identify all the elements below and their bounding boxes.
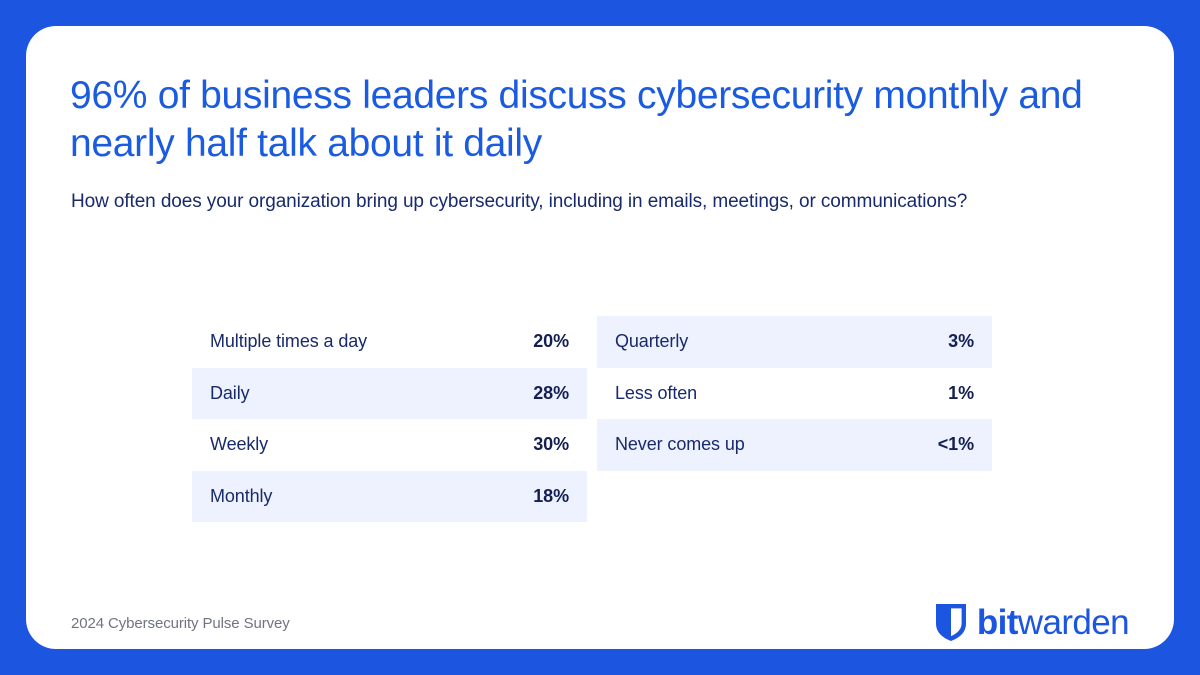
row-value: 28%: [533, 383, 569, 404]
row-value: <1%: [938, 434, 974, 455]
wordmark-bit: bit: [977, 603, 1018, 642]
row-label: Less often: [615, 383, 697, 404]
slide-root: 96% of business leaders discuss cybersec…: [0, 0, 1200, 675]
bitwarden-wordmark: bitwarden: [977, 604, 1129, 641]
row-label: Multiple times a day: [210, 331, 367, 352]
row-value: 30%: [533, 434, 569, 455]
results-column-right: Quarterly 3% Less often 1% Never comes u…: [597, 316, 992, 522]
table-row: Quarterly 3%: [597, 316, 992, 368]
page-title: 96% of business leaders discuss cybersec…: [70, 72, 1128, 168]
row-value: 1%: [948, 383, 974, 404]
table-row: Less often 1%: [597, 368, 992, 420]
row-label: Monthly: [210, 486, 272, 507]
results-column-left: Multiple times a day 20% Daily 28% Weekl…: [192, 316, 587, 522]
row-label: Quarterly: [615, 331, 688, 352]
table-row-empty: [597, 471, 992, 523]
wordmark-warden: warden: [1018, 603, 1129, 642]
row-label: Daily: [210, 383, 250, 404]
row-value: 3%: [948, 331, 974, 352]
bitwarden-shield-icon: [936, 604, 966, 641]
bitwarden-logo: bitwarden: [936, 604, 1129, 641]
table-row: Daily 28%: [192, 368, 587, 420]
row-value: 20%: [533, 331, 569, 352]
table-row: Never comes up <1%: [597, 419, 992, 471]
survey-question-subtitle: How often does your organization bring u…: [71, 189, 1111, 215]
row-label: Weekly: [210, 434, 268, 455]
content-card: 96% of business leaders discuss cybersec…: [26, 26, 1174, 649]
survey-source-note: 2024 Cybersecurity Pulse Survey: [71, 615, 290, 632]
table-row: Monthly 18%: [192, 471, 587, 523]
row-label: Never comes up: [615, 434, 745, 455]
table-row: Multiple times a day 20%: [192, 316, 587, 368]
table-row: Weekly 30%: [192, 419, 587, 471]
results-table: Multiple times a day 20% Daily 28% Weekl…: [192, 316, 992, 522]
row-value: 18%: [533, 486, 569, 507]
